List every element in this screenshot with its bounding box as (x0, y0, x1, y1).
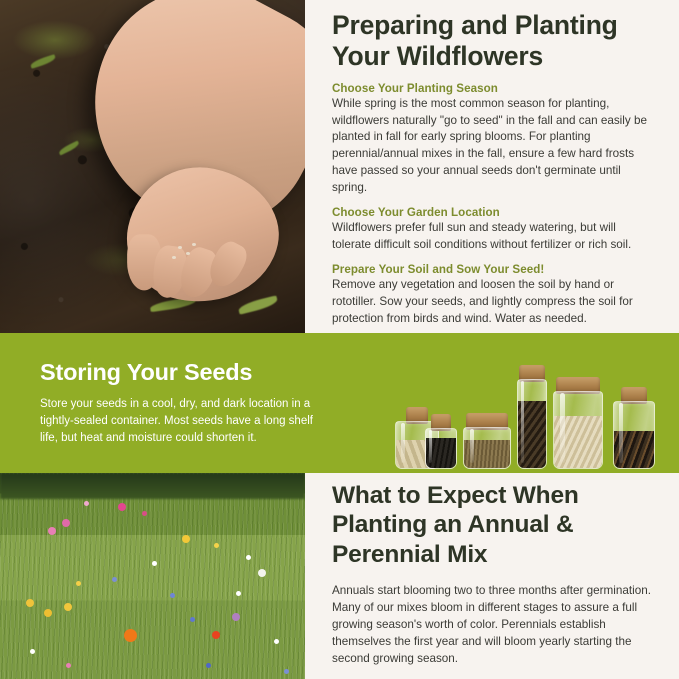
body-garden-location: Wildflowers prefer full sun and steady w… (332, 220, 655, 254)
flower-dot (258, 569, 266, 577)
flower-dot (44, 609, 52, 617)
expect-body: Annuals start blooming two to three mont… (332, 583, 653, 668)
seed-jars-photo (351, 351, 671, 469)
flower-dot (182, 535, 190, 543)
seed-dot (186, 252, 190, 255)
expect-text-column: What to Expect When Planting an Annual &… (305, 473, 679, 679)
section-storing-your-seeds: Storing Your Seeds Store your seeds in a… (0, 333, 679, 473)
glass-highlight (521, 381, 524, 463)
flower-dot (214, 543, 219, 548)
flower-dot (190, 617, 195, 622)
flower-dot (284, 669, 289, 674)
jar-brown-grain (463, 413, 511, 469)
storing-title: Storing Your Seeds (40, 360, 321, 386)
subhead-garden-location: Choose Your Garden Location (332, 206, 655, 219)
flower-dot (152, 561, 157, 566)
seed-dot (192, 243, 196, 246)
storing-text-column: Storing Your Seeds Store your seeds in a… (0, 333, 345, 447)
flower-dot (206, 663, 211, 668)
body-prepare-soil: Remove any vegetation and loosen the soi… (332, 277, 655, 328)
glass-highlight (470, 429, 474, 463)
flower-dot (26, 599, 34, 607)
jar-mixed-seeds (613, 387, 655, 469)
section-what-to-expect: What to Expect When Planting an Annual &… (0, 473, 679, 679)
glass-highlight (619, 403, 623, 463)
hand-planting-seeds-photo (0, 0, 305, 333)
glass-highlight (560, 393, 565, 463)
flower-dot (118, 503, 126, 511)
treeline-shape (0, 473, 305, 499)
wildflower-meadow-photo (0, 473, 305, 679)
infographic-page: Preparing and Planting Your Wildflowers … (0, 0, 679, 679)
seed-dot (178, 246, 182, 249)
glass-highlight (429, 430, 432, 463)
flower-dot (274, 639, 279, 644)
flower-dot (112, 577, 117, 582)
subhead-planting-season: Choose Your Planting Season (332, 82, 655, 95)
preparing-text-column: Preparing and Planting Your Wildflowers … (305, 0, 679, 333)
flower-dot (246, 555, 251, 560)
flower-dot (62, 519, 70, 527)
storing-body: Store your seeds in a cool, dry, and dar… (40, 396, 321, 447)
jar-black-seeds (425, 414, 457, 469)
glass-highlight (401, 423, 405, 463)
section-preparing-and-planting: Preparing and Planting Your Wildflowers … (0, 0, 679, 333)
flower-dot (124, 629, 137, 642)
flower-dot (64, 603, 72, 611)
flower-dot (212, 631, 220, 639)
flower-dot (48, 527, 56, 535)
jar-tall-dark-seeds (517, 365, 547, 469)
expect-title: What to Expect When Planting an Annual &… (332, 481, 653, 569)
flower-dot (142, 511, 147, 516)
subhead-prepare-soil: Prepare Your Soil and Sow Your Seed! (332, 263, 655, 276)
flower-dot (76, 581, 81, 586)
page-title: Preparing and Planting Your Wildflowers (332, 10, 655, 73)
flower-dot (66, 663, 71, 668)
body-planting-season: While spring is the most common season f… (332, 96, 655, 198)
flower-dot (84, 501, 89, 506)
seed-dot (172, 256, 176, 259)
flower-dot (170, 593, 175, 598)
flower-dot (30, 649, 35, 654)
jar-large-pumpkin-seeds (553, 377, 603, 469)
flower-dot (232, 613, 240, 621)
flower-dot (236, 591, 241, 596)
